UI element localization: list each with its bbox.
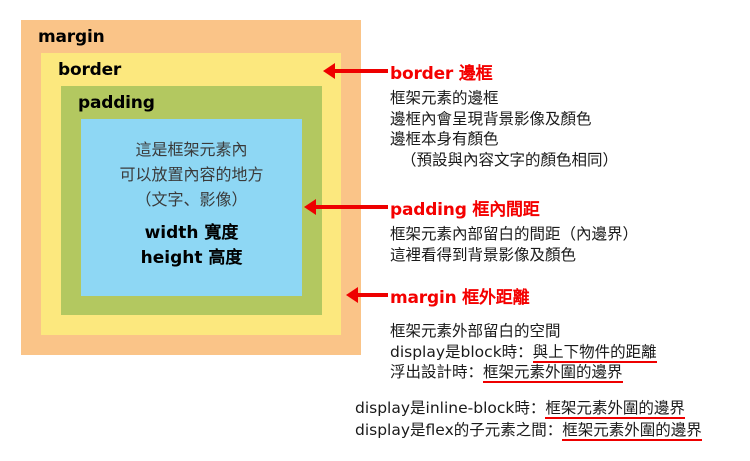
annotation-padding-line-2: 這裡看得到背景影像及顏色 bbox=[390, 245, 638, 266]
footer-line-2: display是flex的子元素之間：框架元素外圍的邊界 bbox=[355, 420, 702, 442]
annotation-margin-line-1: 框架元素外部留白的空間 bbox=[390, 321, 657, 342]
footer-notes: display是inline-block時：框架元素外圍的邊界 display是… bbox=[355, 398, 702, 441]
padding-label: padding bbox=[78, 93, 155, 113]
annotation-margin-line-2-underlined: 與上下物件的距離 bbox=[533, 343, 657, 363]
content-height-line: height 高度 bbox=[81, 246, 302, 271]
content-line-3: （文字、影像） bbox=[81, 187, 302, 212]
footer-line-1-underlined: 框架元素外圍的邊界 bbox=[545, 399, 685, 419]
annotation-margin-line-2-prefix: display是block時： bbox=[390, 343, 533, 361]
content-line-2: 可以放置內容的地方 bbox=[81, 162, 302, 187]
box-model-diagram-canvas: margin border padding 這是框架元素內 可以放置內容的地方 … bbox=[0, 0, 750, 461]
footer-line-2-underlined: 框架元素外圍的邊界 bbox=[562, 421, 702, 441]
footer-line-1: display是inline-block時：框架元素外圍的邊界 bbox=[355, 398, 702, 420]
annotation-margin-line-3-underlined: 框架元素外圍的邊界 bbox=[483, 363, 623, 383]
content-spacer bbox=[81, 212, 302, 221]
annotation-padding-heading: padding 框內間距 bbox=[390, 195, 638, 220]
padding-pointer-arrow bbox=[315, 205, 388, 209]
annotation-padding: padding 框內間距 框架元素內部留白的間距（內邊界） 這裡看得到背景影像及… bbox=[390, 195, 638, 265]
margin-box: margin border padding 這是框架元素內 可以放置內容的地方 … bbox=[21, 20, 361, 355]
border-pointer-arrow bbox=[334, 69, 388, 73]
content-width-line: width 寬度 bbox=[81, 221, 302, 246]
annotation-padding-body: 框架元素內部留白的間距（內邊界） 這裡看得到背景影像及顏色 bbox=[390, 224, 638, 265]
footer-line-2-prefix: display是flex的子元素之間： bbox=[355, 421, 562, 439]
margin-pointer-arrow bbox=[357, 293, 388, 297]
annotation-border-line-1: 框架元素的邊框 bbox=[390, 88, 618, 109]
padding-box: padding 這是框架元素內 可以放置內容的地方 （文字、影像） width … bbox=[61, 86, 322, 315]
content-line-1: 這是框架元素內 bbox=[81, 137, 302, 162]
content-box-text: 這是框架元素內 可以放置內容的地方 （文字、影像） width 寬度 heigh… bbox=[81, 137, 302, 271]
annotation-border-heading: border 邊框 bbox=[390, 59, 618, 84]
annotation-margin-line-3: 浮出設計時：框架元素外圍的邊界 bbox=[390, 362, 657, 383]
annotation-border: border 邊框 框架元素的邊框 邊框內會呈現背景影像及顏色 邊框本身有顏色 … bbox=[390, 59, 618, 170]
annotation-margin-heading: margin 框外距離 bbox=[390, 283, 657, 308]
annotation-border-line-4: （預設與內容文字的顏色相同） bbox=[390, 150, 618, 171]
annotation-margin-line-2: display是block時：與上下物件的距離 bbox=[390, 342, 657, 363]
annotation-border-body: 框架元素的邊框 邊框內會呈現背景影像及顏色 邊框本身有顏色 （預設與內容文字的顏… bbox=[390, 88, 618, 170]
margin-label: margin bbox=[38, 27, 104, 47]
content-box: 這是框架元素內 可以放置內容的地方 （文字、影像） width 寬度 heigh… bbox=[81, 119, 302, 296]
footer-line-1-prefix: display是inline-block時： bbox=[355, 399, 545, 417]
border-box: border padding 這是框架元素內 可以放置內容的地方 （文字、影像）… bbox=[41, 53, 341, 335]
annotation-margin: margin 框外距離 框架元素外部留白的空間 display是block時：與… bbox=[390, 283, 657, 383]
annotation-margin-body: 框架元素外部留白的空間 display是block時：與上下物件的距離 浮出設計… bbox=[390, 321, 657, 383]
annotation-border-line-3: 邊框本身有顏色 bbox=[390, 129, 618, 150]
annotation-margin-line-3-prefix: 浮出設計時： bbox=[390, 363, 483, 381]
annotation-padding-line-1: 框架元素內部留白的間距（內邊界） bbox=[390, 224, 638, 245]
border-label: border bbox=[58, 60, 121, 80]
annotation-border-line-2: 邊框內會呈現背景影像及顏色 bbox=[390, 109, 618, 130]
